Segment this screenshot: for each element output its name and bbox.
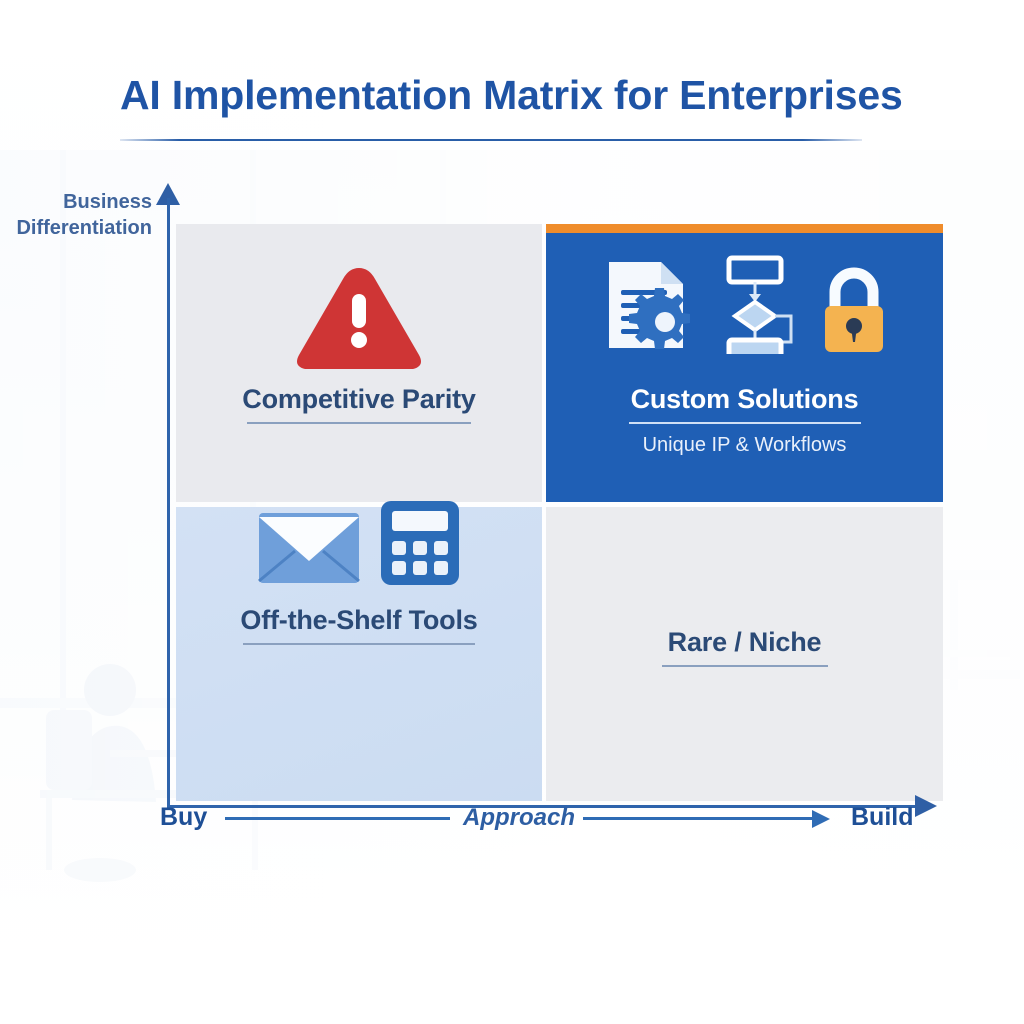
custom-solutions-icon-row bbox=[546, 254, 943, 359]
quadrant-label-underline bbox=[243, 643, 475, 645]
x-axis-label-buy: Buy bbox=[160, 803, 207, 832]
y-axis-label-line2: Differentiation bbox=[0, 216, 152, 242]
y-axis-label: Business Differentiation bbox=[0, 190, 152, 241]
off-the-shelf-icon-row bbox=[176, 499, 542, 592]
x-axis-segment-right bbox=[583, 817, 813, 820]
title-underline bbox=[120, 139, 862, 141]
matrix-diagram: AI Implementation Matrix for Enterprises… bbox=[0, 0, 1024, 1024]
x-axis-segment-left bbox=[225, 817, 450, 820]
x-axis-segment-arrowhead bbox=[812, 810, 830, 828]
quadrant-label: Custom Solutions bbox=[546, 384, 943, 415]
quadrant-label: Competitive Parity bbox=[176, 384, 542, 415]
y-axis-label-line1: Business bbox=[63, 191, 152, 213]
quadrant-accent-bar bbox=[546, 224, 943, 233]
x-axis-label-build: Build bbox=[851, 803, 914, 832]
quadrant-custom-solutions[interactable]: Custom Solutions Unique IP & Workflows bbox=[546, 224, 943, 502]
quadrant-grid: Competitive Parity bbox=[176, 224, 943, 801]
quadrant-label-underline bbox=[629, 422, 861, 424]
quadrant-off-the-shelf-tools[interactable]: Off-the-Shelf Tools bbox=[176, 507, 542, 801]
quadrant-label-underline bbox=[247, 422, 471, 424]
y-axis-line bbox=[167, 198, 170, 808]
quadrant-subtitle: Unique IP & Workflows bbox=[546, 434, 943, 457]
quadrant-label-underline bbox=[662, 665, 828, 667]
quadrant-label: Rare / Niche bbox=[546, 627, 943, 658]
page-title: AI Implementation Matrix for Enterprises bbox=[120, 72, 920, 119]
flowchart-icon bbox=[713, 254, 799, 359]
quadrant-competitive-parity[interactable]: Competitive Parity bbox=[176, 224, 542, 502]
x-axis-arrowhead bbox=[915, 795, 937, 817]
quadrant-label: Off-the-Shelf Tools bbox=[176, 605, 542, 636]
lock-icon bbox=[817, 258, 891, 359]
envelope-icon bbox=[257, 509, 361, 592]
document-gear-icon bbox=[599, 256, 695, 359]
quadrant-rare-niche[interactable]: Rare / Niche bbox=[546, 507, 943, 801]
x-axis-label-approach: Approach bbox=[463, 804, 575, 832]
calculator-icon bbox=[379, 499, 461, 592]
warning-triangle-icon bbox=[176, 260, 542, 375]
